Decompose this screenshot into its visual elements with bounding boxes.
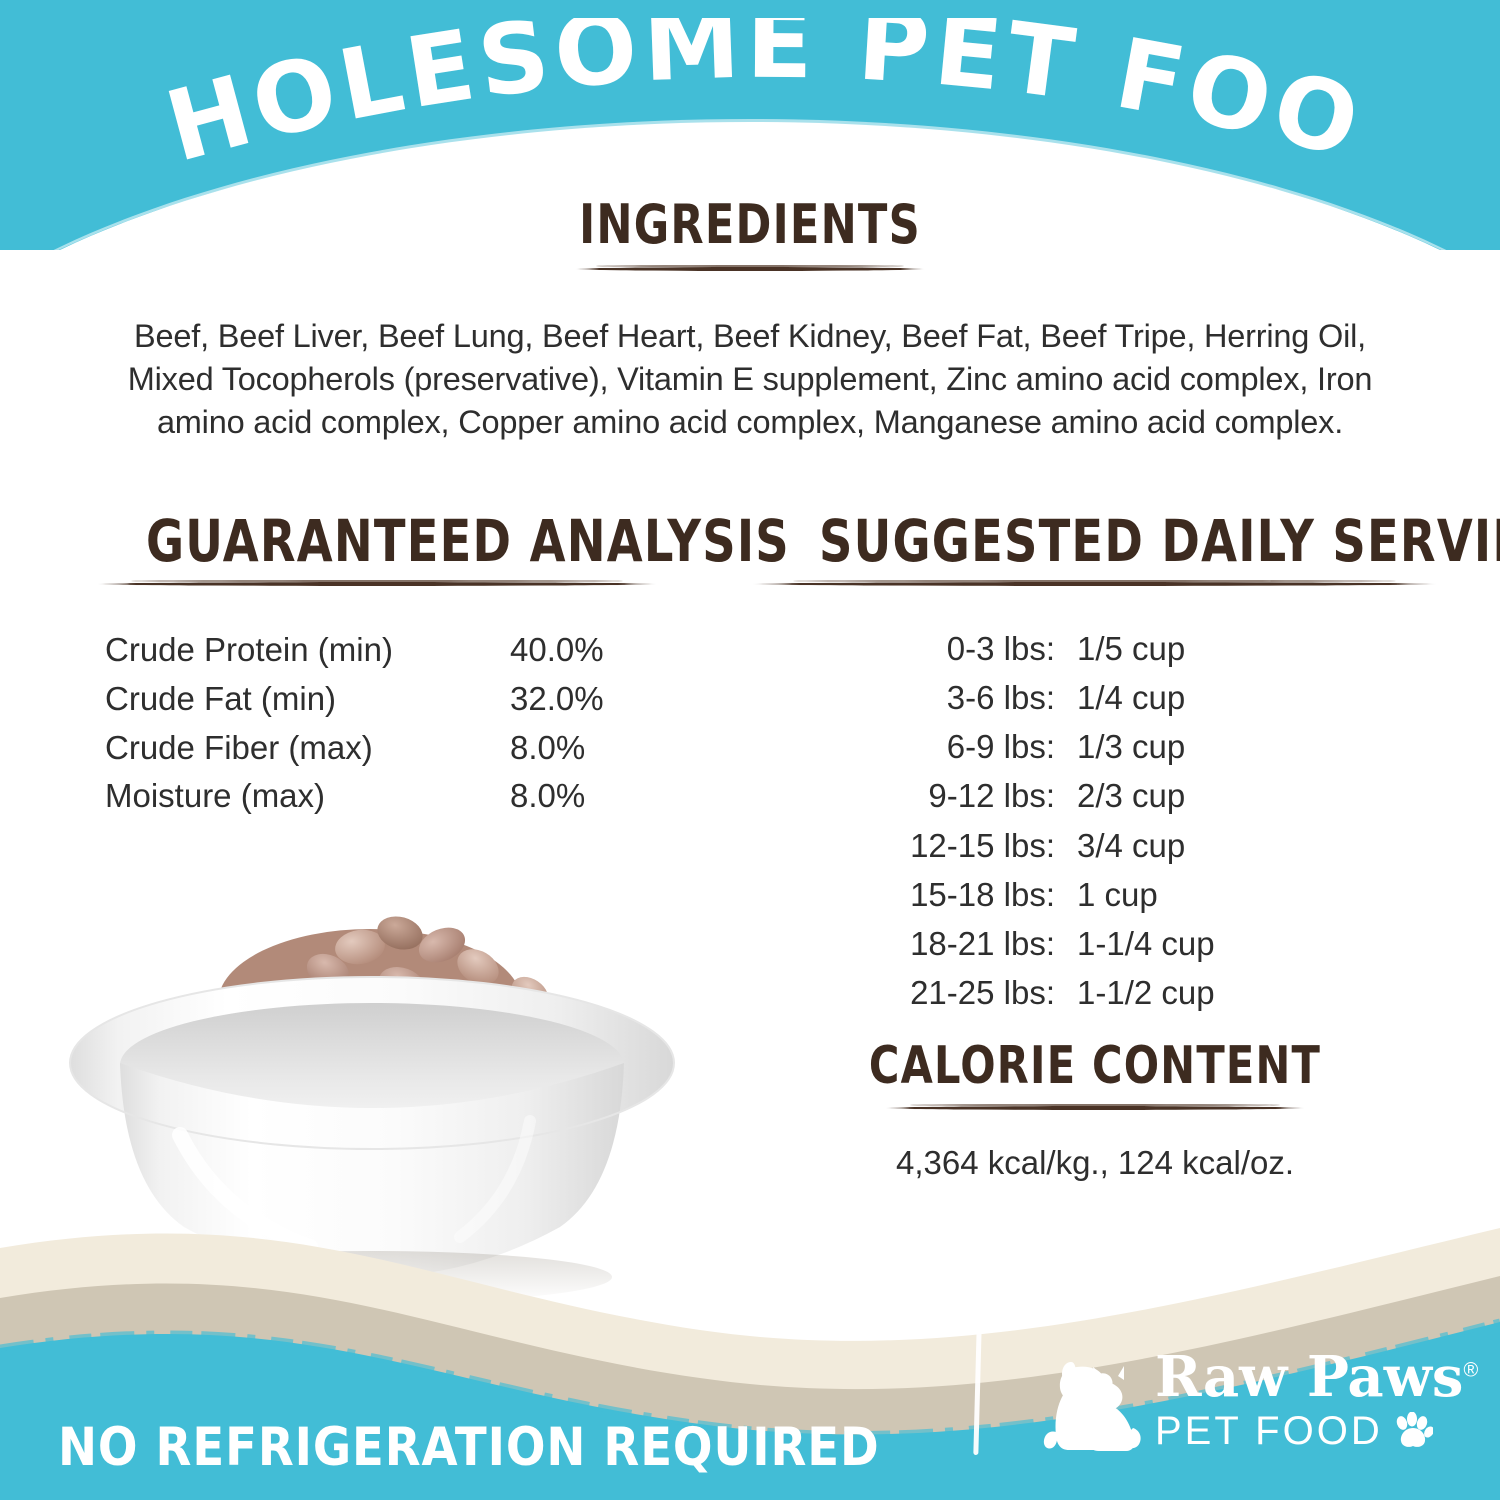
nutrient-label: Crude Protein (min) [85, 626, 510, 675]
table-row: 0-3 lbs: 1/5 cup [750, 624, 1440, 673]
nutrient-label: Moisture (max) [85, 772, 510, 821]
serving-amount: 1-1/4 cup [1055, 919, 1355, 968]
serving-amount: 1/5 cup [1055, 624, 1355, 673]
table-row: 21-25 lbs: 1-1/2 cup [750, 968, 1440, 1017]
serving-amount: 3/4 cup [1055, 821, 1355, 870]
serving-amount: 1 cup [1055, 870, 1355, 919]
ingredients-heading: INGREDIENTS [238, 198, 1262, 252]
suggested-daily-serving-divider [752, 579, 1437, 588]
weight-range: 18-21 lbs: [750, 919, 1055, 968]
weight-range: 3-6 lbs: [750, 673, 1055, 722]
weight-range: 0-3 lbs: [750, 624, 1055, 673]
table-row: 9-12 lbs: 2/3 cup [750, 771, 1440, 820]
brand-tagline: PET FOOD [1155, 1411, 1478, 1451]
brand-tagline-text: PET FOOD [1155, 1411, 1383, 1451]
nutrient-value: 8.0% [510, 724, 675, 773]
brand-name-text: Raw Paws [1155, 1344, 1463, 1410]
calorie-content-section: CALORIE CONTENT 4,364 kcal/kg., 124 kcal… [750, 1040, 1440, 1182]
page-title: WHOLESOME PET FOOD [0, 18, 1500, 158]
table-row: 12-15 lbs: 3/4 cup [750, 821, 1440, 870]
nutrient-label: Crude Fat (min) [85, 675, 510, 724]
weight-range: 9-12 lbs: [750, 771, 1055, 820]
suggested-daily-serving-section: SUGGESTED DAILY SERVING 0-3 lbs: 1/5 cup… [750, 512, 1440, 1017]
table-row: 15-18 lbs: 1 cup [750, 870, 1440, 919]
brand-logo: Raw Paws® PET FOOD [1038, 1340, 1478, 1460]
nutrient-value: 32.0% [510, 675, 675, 724]
serving-table: 0-3 lbs: 1/5 cup 3-6 lbs: 1/4 cup 6-9 lb… [750, 624, 1440, 1017]
serving-amount: 1/4 cup [1055, 673, 1355, 722]
weight-range: 6-9 lbs: [750, 722, 1055, 771]
serving-amount: 1/3 cup [1055, 722, 1355, 771]
suggested-daily-serving-heading: SUGGESTED DAILY SERVING [819, 512, 1371, 570]
nutrient-label: Crude Fiber (max) [85, 724, 510, 773]
nutrient-value: 8.0% [510, 772, 675, 821]
table-row: 6-9 lbs: 1/3 cup [750, 722, 1440, 771]
ingredients-divider [575, 264, 925, 273]
weight-range: 12-15 lbs: [750, 821, 1055, 870]
table-row: 3-6 lbs: 1/4 cup [750, 673, 1440, 722]
serving-amount: 1-1/2 cup [1055, 968, 1355, 1017]
table-row: 18-21 lbs: 1-1/4 cup [750, 919, 1440, 968]
brand-name: Raw Paws® [1155, 1349, 1478, 1405]
guaranteed-analysis-divider [97, 579, 657, 588]
no-refrigeration-claim: NO REFRIGERATION REQUIRED [58, 1417, 880, 1478]
paw-print-icon [1393, 1412, 1433, 1450]
calorie-content-divider [885, 1103, 1305, 1112]
registered-trademark-icon: ® [1463, 1359, 1478, 1381]
page-title-text: WHOLESOME PET FOOD [0, 18, 1375, 168]
serving-amount: 2/3 cup [1055, 771, 1355, 820]
ingredients-text: Beef, Beef Liver, Beef Lung, Beef Heart,… [110, 315, 1390, 445]
weight-range: 15-18 lbs: [750, 870, 1055, 919]
table-row: Crude Fat (min) 32.0% [85, 675, 695, 724]
brand-wordmark: Raw Paws® PET FOOD [1155, 1349, 1478, 1451]
dog-cat-silhouette-icon [1038, 1340, 1143, 1460]
ingredients-section: INGREDIENTS Beef, Beef Liver, Beef Lung,… [110, 198, 1390, 445]
table-row: Crude Fiber (max) 8.0% [85, 724, 695, 773]
nutrient-value: 40.0% [510, 626, 675, 675]
guaranteed-analysis-heading: GUARANTEED ANALYSIS [146, 512, 634, 570]
weight-range: 21-25 lbs: [750, 968, 1055, 1017]
svg-text:WHOLESOME PET FOOD: WHOLESOME PET FOOD [0, 18, 1375, 168]
guaranteed-analysis-section: GUARANTEED ANALYSIS Crude Protein (min) … [85, 512, 695, 821]
calorie-content-heading: CALORIE CONTENT [819, 1040, 1371, 1092]
table-row: Crude Protein (min) 40.0% [85, 626, 695, 675]
table-row: Moisture (max) 8.0% [85, 772, 695, 821]
guaranteed-analysis-table: Crude Protein (min) 40.0% Crude Fat (min… [85, 626, 695, 821]
product-info-panel: WHOLESOME PET FOOD INGREDIENTS Beef, Bee… [0, 0, 1500, 1500]
